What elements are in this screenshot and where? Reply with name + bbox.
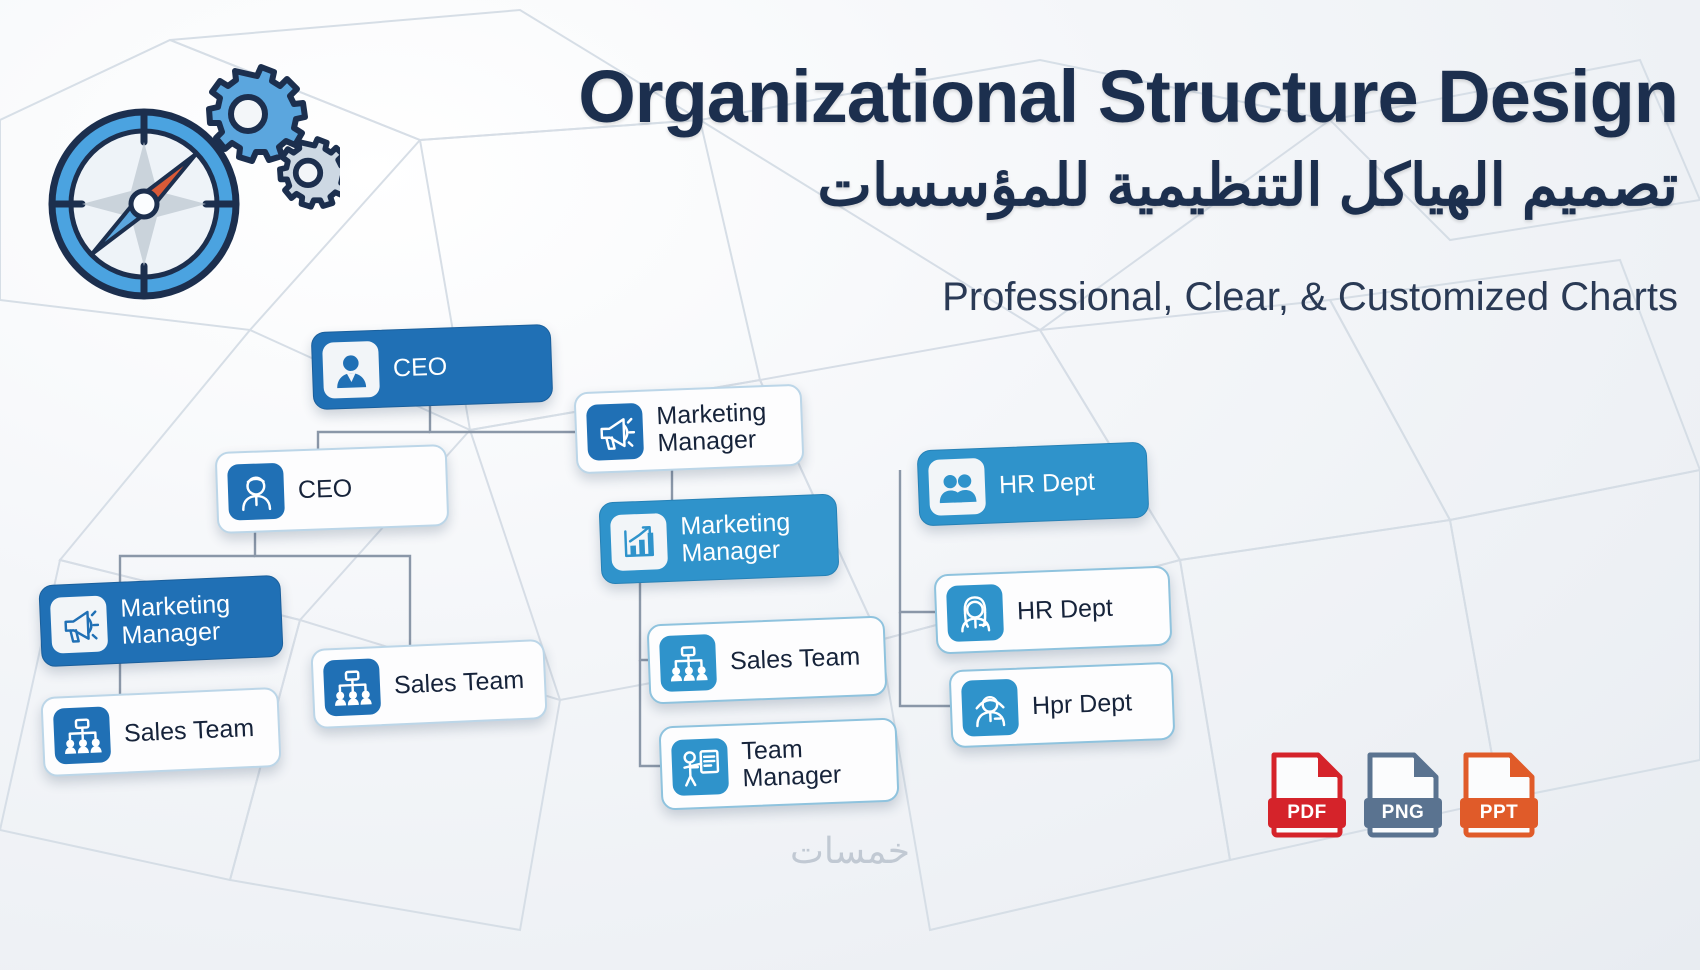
page-subtitle: Professional, Clear, & Customized Charts (942, 275, 1678, 320)
org-node-label: CEO (393, 353, 448, 382)
org-node-label: Sales Team (393, 666, 524, 699)
export-badge-png-label: PNG (1364, 798, 1442, 828)
org-node-label: Team Manager (741, 735, 842, 793)
org-node-pr-card[interactable]: Hpr Dept (949, 662, 1176, 749)
org-node-team-manager-card[interactable]: Team Manager (658, 717, 899, 810)
header: Organizational Structure Design تصميم ال… (0, 0, 1700, 350)
manager-avatar-icon (227, 463, 285, 521)
watermark: خمسات (0, 830, 1700, 872)
bar-chart-growth-icon (610, 513, 668, 571)
export-badge-png[interactable]: PNG (1364, 752, 1442, 838)
org-node-hr-card[interactable]: HR Dept (934, 565, 1173, 654)
megaphone-icon (50, 595, 108, 653)
org-node-label: Marketing Manager (680, 509, 792, 567)
org-node-ceo-card[interactable]: CEO (215, 444, 450, 534)
presenter-people-icon (961, 679, 1019, 737)
export-badge-ppt-label: PPT (1460, 798, 1538, 828)
org-node-label: Hpr Dept (1032, 689, 1133, 720)
woman-employee-icon (946, 584, 1004, 642)
org-tree-icon (53, 706, 111, 764)
compass-gears-icon (40, 52, 340, 302)
org-tree-icon (323, 658, 381, 716)
logo (40, 52, 340, 302)
export-badge-pdf[interactable]: PDF (1268, 752, 1346, 838)
export-badge-pdf-label: PDF (1268, 798, 1346, 828)
org-node-label: Marketing Manager (656, 399, 768, 457)
org-node-label: Marketing Manager (120, 591, 232, 650)
presenter-board-icon (671, 738, 729, 796)
org-node-marketing-filled[interactable]: Marketing Manager (599, 493, 840, 584)
org-node-sales-card-left1[interactable]: Sales Team (40, 687, 281, 777)
megaphone-icon (586, 403, 644, 461)
org-node-sales-card-left2[interactable]: Sales Team (310, 639, 547, 729)
export-badge-ppt[interactable]: PPT (1460, 752, 1538, 838)
export-format-badges: PDF PNG PPT (1268, 752, 1558, 842)
org-node-label: HR Dept (1017, 594, 1114, 625)
org-node-label: HR Dept (999, 468, 1096, 499)
two-people-icon (928, 458, 986, 516)
org-node-marketing-card-1[interactable]: Marketing Manager (574, 384, 805, 475)
org-node-marketing-card-2[interactable]: Marketing Manager (38, 575, 283, 667)
page-title-ar: تصميم الهياكل التنظيمية للمؤسسات (817, 150, 1678, 223)
org-node-label: Sales Team (123, 714, 254, 747)
org-node-label: Sales Team (730, 643, 861, 675)
org-node-hr-filled[interactable]: HR Dept (917, 442, 1150, 527)
page-title: Organizational Structure Design (578, 58, 1678, 136)
org-node-label: CEO (298, 475, 353, 504)
org-node-sales-card-mid[interactable]: Sales Team (647, 615, 888, 704)
org-tree-icon (659, 634, 717, 692)
